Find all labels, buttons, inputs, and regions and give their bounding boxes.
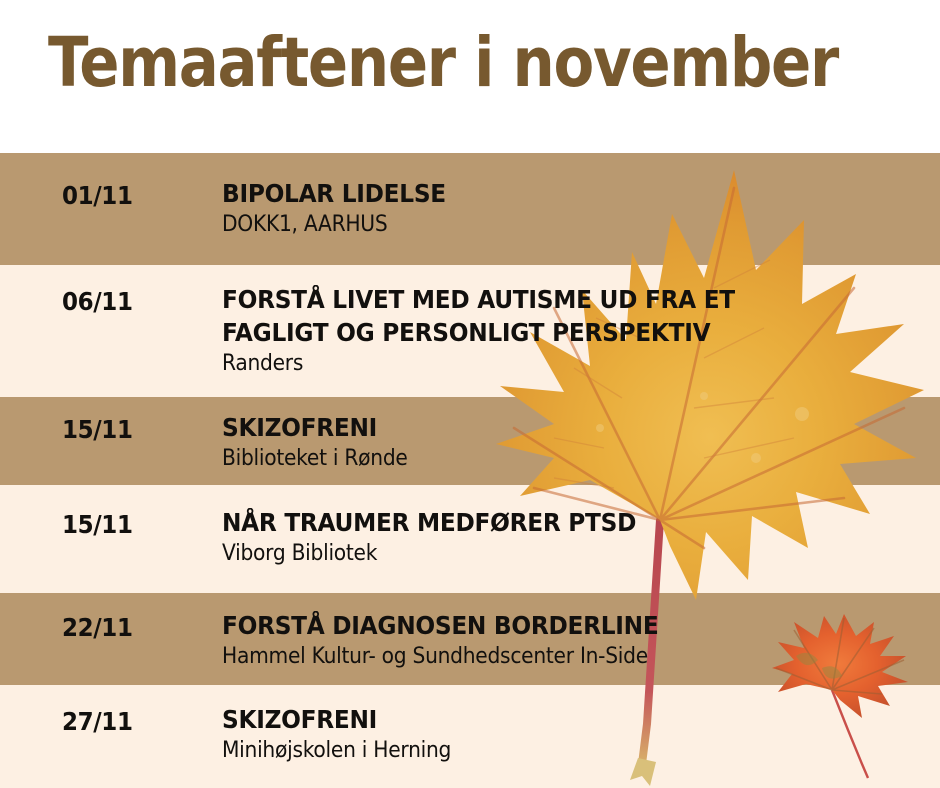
event-title-line-1: FORSTÅ LIVET MED AUTISME UD FRA ET bbox=[222, 283, 864, 316]
schedule-row[interactable]: 22/11 FORSTÅ DIAGNOSEN BORDERLINE Hammel… bbox=[0, 593, 940, 685]
event-body: SKIZOFRENI Minihøjskolen i Herning bbox=[222, 703, 912, 766]
event-date: 01/11 bbox=[62, 181, 133, 210]
event-date: 06/11 bbox=[62, 287, 133, 316]
schedule-row[interactable]: 15/11 NÅR TRAUMER MEDFØRER PTSD Viborg B… bbox=[0, 485, 940, 593]
page-title: Temaaftener i november bbox=[48, 27, 838, 99]
schedule-row[interactable]: 06/11 FORSTÅ LIVET MED AUTISME UD FRA ET… bbox=[0, 265, 940, 397]
event-venue: Hammel Kultur- og Sundhedscenter In-Side bbox=[222, 643, 857, 672]
event-body: NÅR TRAUMER MEDFØRER PTSD Viborg Bibliot… bbox=[222, 506, 912, 569]
event-venue: DOKK1, AARHUS bbox=[222, 211, 857, 240]
event-title-line-2: FAGLIGT OG PERSONLIGT PERSPEKTIV bbox=[222, 316, 864, 349]
event-body: FORSTÅ DIAGNOSEN BORDERLINE Hammel Kultu… bbox=[222, 609, 912, 672]
event-date: 22/11 bbox=[62, 613, 133, 642]
poster-header: Temaaftener i november bbox=[0, 0, 940, 153]
event-venue: Biblioteket i Rønde bbox=[222, 445, 857, 474]
event-title: FORSTÅ DIAGNOSEN BORDERLINE bbox=[222, 609, 864, 642]
schedule-row[interactable]: 15/11 SKIZOFRENI Biblioteket i Rønde bbox=[0, 397, 940, 485]
event-venue: Viborg Bibliotek bbox=[222, 540, 857, 569]
event-title: BIPOLAR LIDELSE bbox=[222, 177, 864, 210]
event-body: SKIZOFRENI Biblioteket i Rønde bbox=[222, 411, 912, 474]
event-venue: Randers bbox=[222, 350, 857, 379]
event-date: 15/11 bbox=[62, 415, 133, 444]
event-body: FORSTÅ LIVET MED AUTISME UD FRA ET FAGLI… bbox=[222, 283, 912, 379]
event-venue: Minihøjskolen i Herning bbox=[222, 737, 857, 766]
schedule-row[interactable]: 27/11 SKIZOFRENI Minihøjskolen i Herning bbox=[0, 685, 940, 788]
poster-canvas: Temaaftener i november 01/11 BIPOLAR LID… bbox=[0, 0, 940, 788]
event-body: BIPOLAR LIDELSE DOKK1, AARHUS bbox=[222, 177, 912, 240]
schedule-row[interactable]: 01/11 BIPOLAR LIDELSE DOKK1, AARHUS bbox=[0, 153, 940, 265]
event-date: 15/11 bbox=[62, 510, 133, 539]
event-title: SKIZOFRENI bbox=[222, 411, 864, 444]
event-date: 27/11 bbox=[62, 707, 133, 736]
event-title: SKIZOFRENI bbox=[222, 703, 864, 736]
event-title: NÅR TRAUMER MEDFØRER PTSD bbox=[222, 506, 864, 539]
schedule-list: 01/11 BIPOLAR LIDELSE DOKK1, AARHUS 06/1… bbox=[0, 153, 940, 788]
